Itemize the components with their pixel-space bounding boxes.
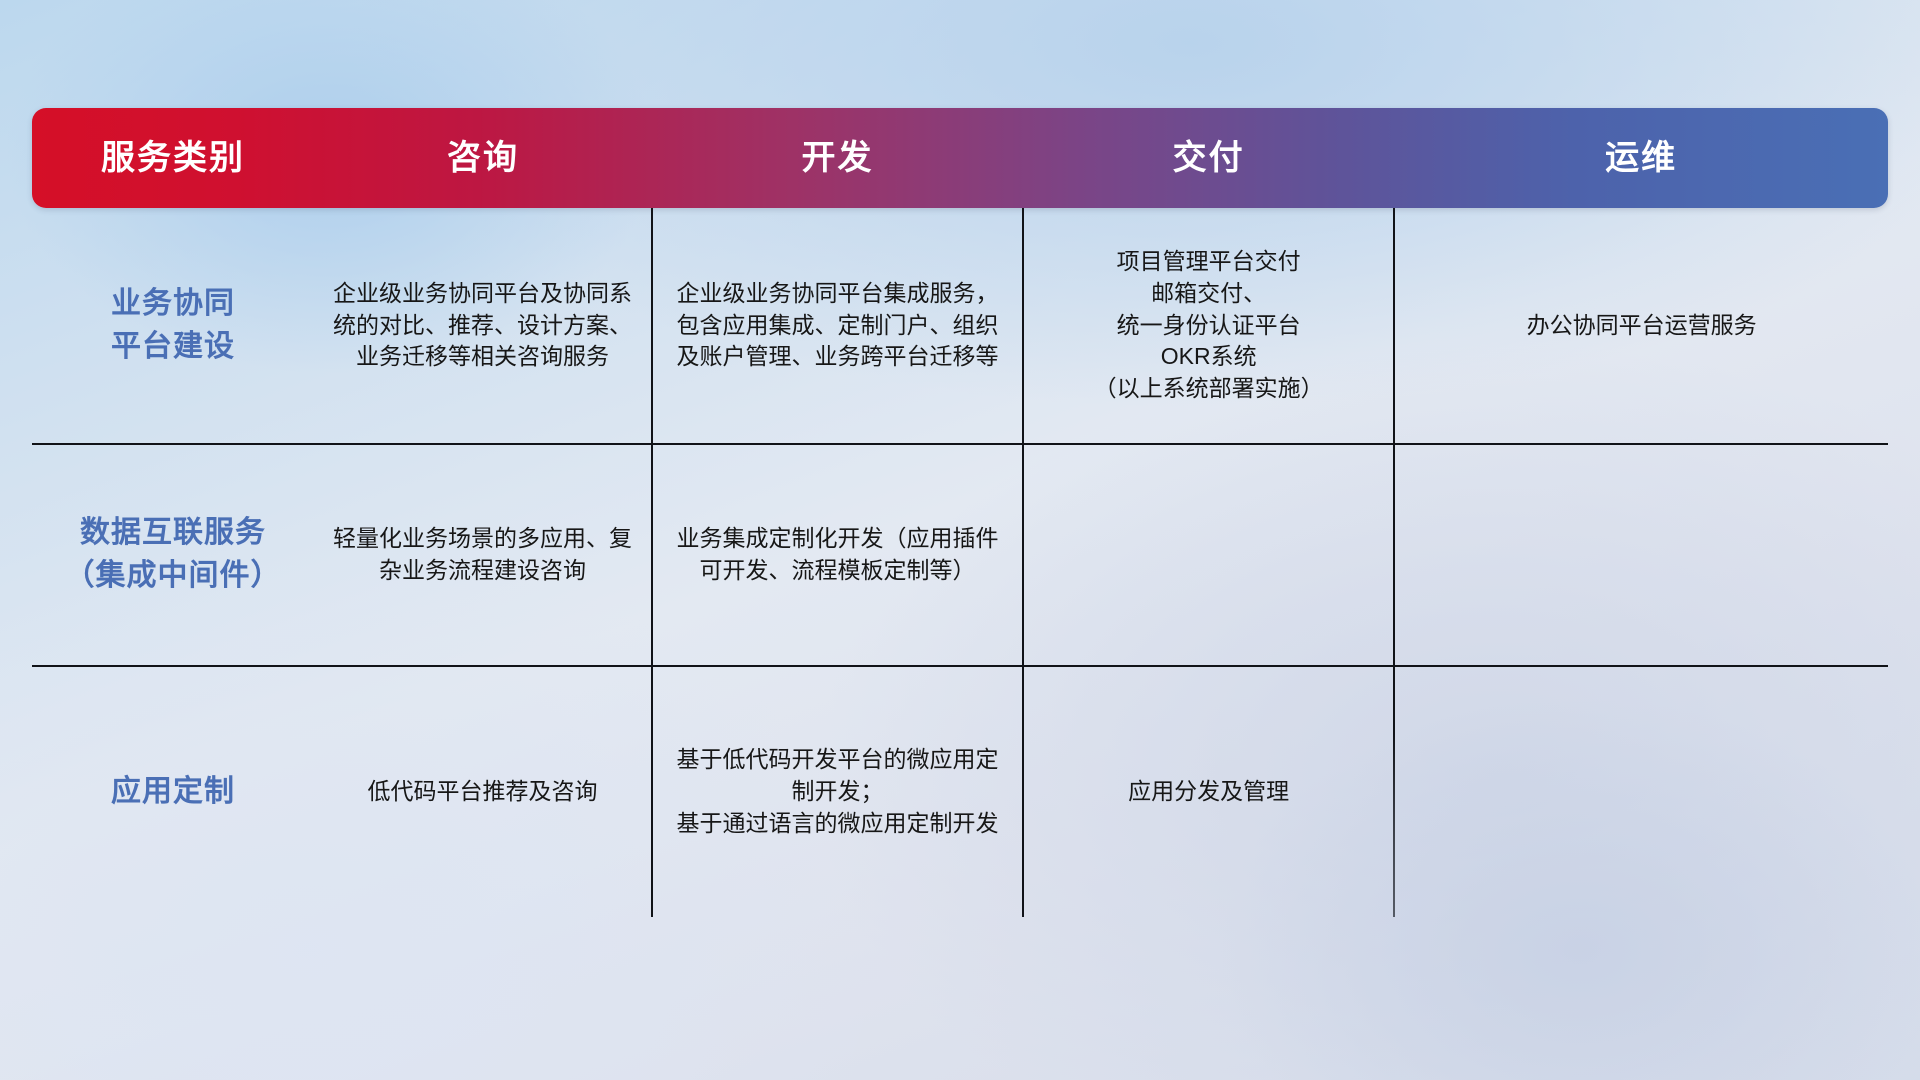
cell-line: 轻量化业务场景的多应用、复 [328, 523, 637, 555]
cell-consulting-row3: 低代码平台推荐及咨询 [314, 666, 652, 917]
cell-development-row3: 基于低代码开发平台的微应用定 制开发； 基于通过语言的微应用定制开发 [652, 666, 1023, 917]
table-row: 数据互联服务 （集成中间件） 轻量化业务场景的多应用、复 杂业务流程建设咨询 业… [32, 444, 1888, 666]
cell-consulting-row1: 企业级业务协同平台及协同系 统的对比、推荐、设计方案、 业务迁移等相关咨询服务 [314, 208, 652, 444]
cell-line: 及账户管理、业务跨平台迁移等 [667, 341, 1008, 373]
cell-line: 办公协同平台运营服务 [1409, 310, 1874, 342]
cell-line: 企业级业务协同平台集成服务， [667, 278, 1008, 310]
cell-development-row1: 企业级业务协同平台集成服务， 包含应用集成、定制门户、组织 及账户管理、业务跨平… [652, 208, 1023, 444]
cell-delivery-row3: 应用分发及管理 [1023, 666, 1394, 917]
cell-line: 制开发； [667, 776, 1008, 808]
cell-line: OKR系统 [1038, 341, 1379, 373]
cell-line: 项目管理平台交付 [1038, 246, 1379, 278]
table-header-cell-consulting: 咨询 [314, 141, 652, 175]
cell-development-row2: 业务集成定制化开发（应用插件 可开发、流程模板定制等） [652, 444, 1023, 666]
slide-canvas: 服务类别 咨询 开发 交付 运维 业务协同 [0, 0, 1920, 1080]
cell-delivery-row2 [1023, 444, 1394, 666]
cell-line: 数据互联服务 [46, 512, 300, 555]
cell-line: 可开发、流程模板定制等） [667, 555, 1008, 587]
cell-category-row3: 应用定制 [32, 666, 314, 917]
cell-consulting-row2: 轻量化业务场景的多应用、复 杂业务流程建设咨询 [314, 444, 652, 666]
table-header-row: 服务类别 咨询 开发 交付 运维 [32, 108, 1888, 208]
cell-line: 应用定制 [46, 771, 300, 814]
cell-line: 业务迁移等相关咨询服务 [328, 341, 637, 373]
service-category-table: 服务类别 咨询 开发 交付 运维 业务协同 [32, 108, 1888, 953]
cell-line: 统的对比、推荐、设计方案、 [328, 310, 637, 342]
cell-category-row1: 业务协同 平台建设 [32, 208, 314, 444]
cell-line: 基于低代码开发平台的微应用定 [667, 744, 1008, 776]
cell-operations-row2 [1394, 444, 1888, 666]
table-header-cell-development: 开发 [652, 141, 1023, 175]
cell-line: （集成中间件） [46, 555, 300, 598]
cell-line: 低代码平台推荐及咨询 [328, 776, 637, 808]
cell-line: （以上系统部署实施） [1038, 373, 1379, 405]
cell-line: 企业级业务协同平台及协同系 [328, 278, 637, 310]
cell-line: 包含应用集成、定制门户、组织 [667, 310, 1008, 342]
cell-operations-row1: 办公协同平台运营服务 [1394, 208, 1888, 444]
cell-line: 邮箱交付、 [1038, 278, 1379, 310]
cell-line: 杂业务流程建设咨询 [328, 555, 637, 587]
cell-line: 业务协同 [46, 283, 300, 326]
cell-line: 基于通过语言的微应用定制开发 [667, 808, 1008, 840]
cell-line: 统一身份认证平台 [1038, 310, 1379, 342]
table-body: 业务协同 平台建设 企业级业务协同平台及协同系 统的对比、推荐、设计方案、 业务… [32, 208, 1888, 917]
table-header-cell-delivery: 交付 [1023, 141, 1394, 175]
table-header-cell-category: 服务类别 [32, 141, 314, 175]
table-row: 业务协同 平台建设 企业级业务协同平台及协同系 统的对比、推荐、设计方案、 业务… [32, 208, 1888, 444]
cell-operations-row3 [1394, 666, 1888, 917]
cell-line: 平台建设 [46, 326, 300, 369]
table-header-cell-operations: 运维 [1394, 141, 1888, 175]
cell-line: 业务集成定制化开发（应用插件 [667, 523, 1008, 555]
cell-category-row2: 数据互联服务 （集成中间件） [32, 444, 314, 666]
cell-delivery-row1: 项目管理平台交付 邮箱交付、 统一身份认证平台 OKR系统 （以上系统部署实施） [1023, 208, 1394, 444]
cell-line: 应用分发及管理 [1038, 776, 1379, 808]
table-row: 应用定制 低代码平台推荐及咨询 基于低代码开发平台的微应用定 制开发； 基于通过… [32, 666, 1888, 917]
